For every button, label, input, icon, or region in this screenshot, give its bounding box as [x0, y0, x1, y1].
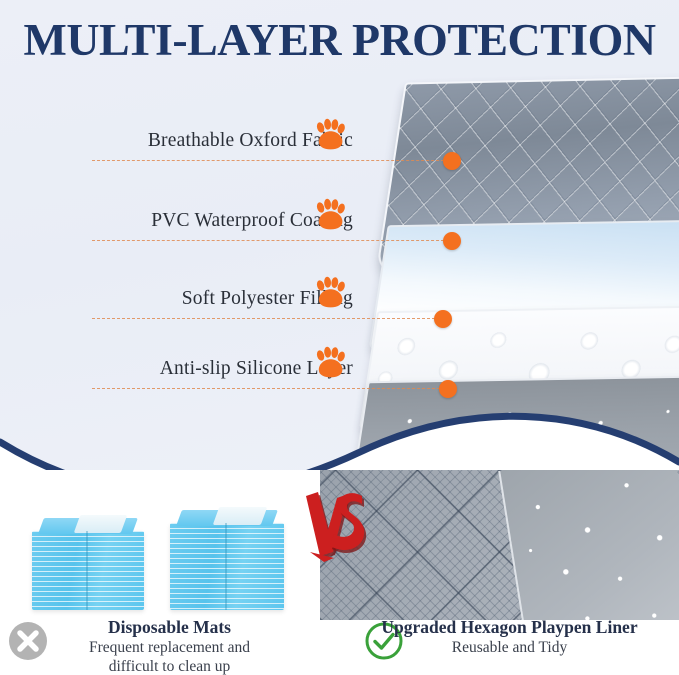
paw-icon: [313, 198, 347, 232]
layer-callout-1: Breathable Oxford Fabric: [0, 130, 679, 188]
caption-title-right: Upgraded Hexagon Playpen Liner: [340, 617, 679, 638]
paw-icon: [313, 276, 347, 310]
disposable-mat-stack-2: [170, 510, 284, 610]
disposable-mats-caption: Disposable Mats Frequent replacement and…: [0, 617, 339, 675]
caption-sub-left-2: difficult to clean up: [0, 658, 339, 675]
callout-dot-1: [443, 152, 461, 170]
layer-callout-3: Soft Polyester Filling: [0, 288, 679, 346]
paw-icon: [313, 276, 347, 310]
paw-icon: [313, 118, 347, 152]
disposable-mat-stack-1: [32, 518, 144, 610]
paw-icon: [313, 346, 347, 380]
playpen-liner-panel: [320, 470, 679, 620]
page-title: MULTI-LAYER PROTECTION: [0, 14, 679, 66]
callout-dashed-line-1: [92, 160, 454, 161]
callout-dot-2: [443, 232, 461, 250]
caption-title-left: Disposable Mats: [0, 617, 339, 638]
versus-badge: [303, 488, 367, 562]
callout-dot-3: [434, 310, 452, 328]
multi-layer-section: MULTI-LAYER PROTECTION Breathable Oxford…: [0, 0, 679, 500]
layer-callout-4: Anti-slip Silicone Layer: [0, 358, 679, 416]
liner-silicone-backing-flap: [498, 470, 679, 620]
caption-sub-right-1: Reusable and Tidy: [340, 639, 679, 658]
layer-callout-2: PVC Waterproof Coating: [0, 210, 679, 268]
callout-dot-4: [439, 380, 457, 398]
callout-dashed-line-2: [92, 240, 454, 241]
disposable-mats-panel: [0, 470, 320, 620]
infographic-canvas: MULTI-LAYER PROTECTION Breathable Oxford…: [0, 0, 679, 675]
callout-dashed-line-3: [92, 318, 445, 319]
caption-sub-left-1: Frequent replacement and: [0, 639, 339, 658]
callout-dashed-line-4: [92, 388, 450, 389]
paw-icon: [313, 198, 347, 232]
paw-icon: [313, 118, 347, 152]
paw-icon: [313, 346, 347, 380]
playpen-liner-caption: Upgraded Hexagon Playpen Liner Reusable …: [340, 617, 679, 657]
